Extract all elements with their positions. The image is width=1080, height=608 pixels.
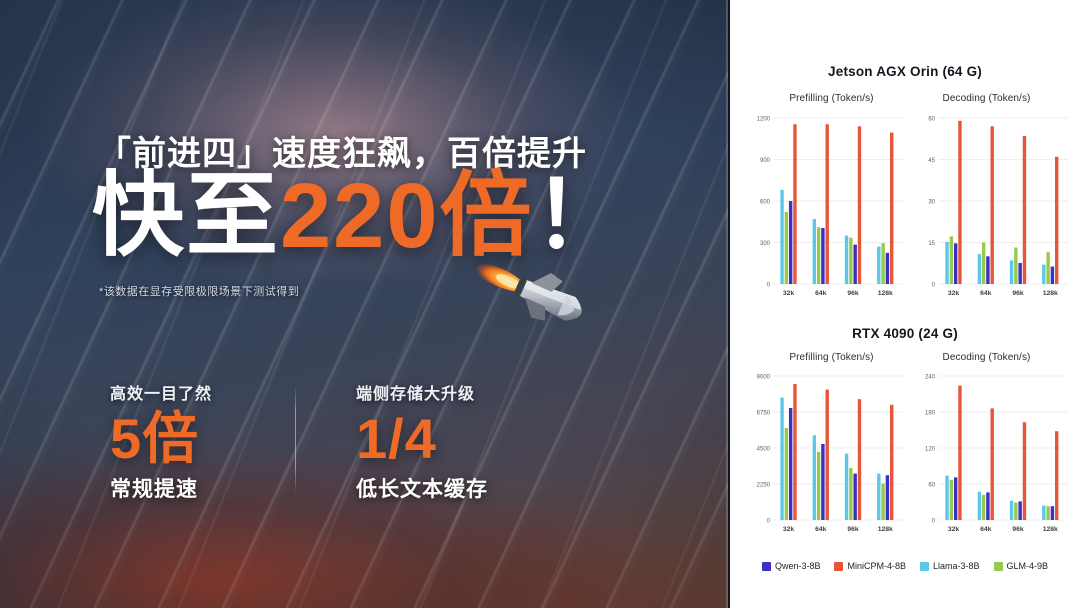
chart-bar: [890, 405, 893, 520]
stat-caption: 端侧存储大升级: [356, 380, 541, 404]
chart-bar: [1023, 136, 1026, 284]
legend-label: MiniCPM-4-8B: [847, 561, 906, 571]
chart-bar: [978, 254, 981, 284]
chart-bar: [986, 256, 989, 284]
x-axis-tick-label: 32k: [783, 290, 795, 297]
y-axis-tick-label: 30: [928, 200, 935, 206]
chart-bar: [826, 124, 829, 284]
chart-bar: [945, 476, 948, 520]
chart-bar: [877, 474, 880, 520]
big-multiplier-value: 220倍: [280, 165, 534, 267]
stat-sublabel: 常规提速: [110, 473, 295, 503]
y-axis-tick-label: 300: [760, 241, 771, 247]
legend-swatch-icon: [834, 562, 843, 571]
chart-bar: [982, 495, 985, 520]
hero-panel: 「前进四」速度狂飙，百倍提升 快至220倍！ *该数据在显存受限极限场景下测试得…: [0, 0, 728, 608]
chart-bar: [958, 386, 961, 520]
big-multiplier-exclamation: ！: [534, 165, 628, 267]
x-axis-tick-label: 96k: [1012, 290, 1024, 297]
y-axis-tick-label: 180: [925, 411, 936, 417]
x-axis-tick-label: 96k: [847, 526, 859, 533]
slide-root: 「前进四」速度狂飙，百倍提升 快至220倍！ *该数据在显存受限极限场景下测试得…: [0, 0, 1080, 608]
chart-bar: [978, 492, 981, 520]
legend-swatch-icon: [994, 562, 1003, 571]
y-axis-tick-label: 120: [925, 447, 936, 453]
chart-bar: [826, 390, 829, 520]
chart-bar: [982, 243, 985, 285]
legend-swatch-icon: [762, 562, 771, 571]
y-axis-tick-label: 0: [767, 283, 771, 289]
x-axis-tick-label: 128k: [878, 526, 893, 533]
y-axis-tick-label: 60: [928, 117, 935, 123]
chart-bar: [991, 408, 994, 520]
stat-card-cache: 端侧存储大升级 1/4 低长文本缓存: [296, 380, 541, 503]
y-axis-tick-label: 60: [928, 483, 935, 489]
chart-bar: [1014, 247, 1017, 284]
legend-item: MiniCPM-4-8B: [834, 561, 906, 571]
chart-group-title-jetson: Jetson AGX Orin (64 G): [730, 64, 1080, 79]
chart-bar: [845, 236, 848, 284]
chart-bar: [991, 126, 994, 284]
legend-item: Qwen-3-8B: [762, 561, 821, 571]
chart-bar: [950, 480, 953, 520]
x-axis-tick-label: 32k: [948, 526, 960, 533]
x-axis-tick-label: 64k: [815, 526, 827, 533]
y-axis-tick-label: 15: [928, 241, 935, 247]
chart-bar: [954, 243, 957, 284]
x-axis-tick-label: 64k: [980, 526, 992, 533]
chart-legend: Qwen-3-8BMiniCPM-4-8BLlama-3-8BGLM-4-9B: [730, 558, 1080, 574]
chart-jetson-decoding: 01530456032k64k96k128k: [909, 110, 1074, 310]
chart-bar: [1046, 252, 1049, 284]
x-axis-tick-label: 32k: [783, 526, 795, 533]
y-axis-tick-label: 240: [925, 375, 936, 381]
x-axis-tick-label: 128k: [878, 290, 893, 297]
chart-group-title-rtx: RTX 4090 (24 G): [730, 326, 1080, 341]
stat-value: 5倍: [110, 408, 295, 471]
chart-bar: [858, 126, 861, 284]
stat-value: 1/4: [356, 408, 541, 471]
chart-bar: [789, 201, 792, 284]
chart-bar: [945, 242, 948, 284]
legend-swatch-icon: [920, 562, 929, 571]
chart-bar: [1055, 157, 1058, 284]
x-axis-tick-label: 64k: [815, 290, 827, 297]
chart-bar: [1046, 506, 1049, 520]
x-axis-tick-label: 96k: [1012, 526, 1024, 533]
chart-bar: [890, 133, 893, 284]
chart-bar: [793, 124, 796, 284]
chart-bar: [881, 243, 884, 284]
chart-bar: [785, 428, 788, 520]
chart-bar: [950, 236, 953, 284]
y-axis-tick-label: 0: [932, 283, 936, 289]
y-axis-tick-label: 0: [767, 519, 771, 525]
chart-bar: [1055, 431, 1058, 520]
legend-label: GLM-4-9B: [1007, 561, 1049, 571]
chart-bar: [821, 228, 824, 284]
chart-bar: [886, 253, 889, 284]
legend-item: Llama-3-8B: [920, 561, 980, 571]
chart-bar: [1042, 506, 1045, 520]
chart-bar: [845, 454, 848, 520]
chart-bar: [789, 408, 792, 520]
chart-bar: [1051, 506, 1054, 520]
chart-bar: [1018, 501, 1021, 520]
y-axis-tick-label: 2250: [757, 483, 771, 489]
footnote: *该数据在显存受限极限场景下测试得到: [99, 283, 299, 299]
chart-jetson-prefilling: 0300600900120032k64k96k128k: [744, 110, 909, 310]
chart-subtitle-rtx-prefilling: Prefilling (Token/s): [754, 352, 909, 363]
x-axis-tick-label: 128k: [1043, 526, 1058, 533]
chart-rtx-decoding: 06012018024032k64k96k128k: [909, 368, 1074, 546]
big-multiplier-prefix: 快至: [92, 165, 280, 267]
chart-bar: [1051, 267, 1054, 284]
chart-bar: [817, 227, 820, 284]
chart-bar: [877, 247, 880, 284]
chart-bar: [793, 384, 796, 520]
x-axis-tick-label: 128k: [1043, 290, 1058, 297]
stat-card-speed: 高效一目了然 5倍 常规提速: [110, 380, 295, 503]
chart-bar: [1014, 503, 1017, 520]
chart-bar: [813, 219, 816, 284]
x-axis-tick-label: 64k: [980, 290, 992, 297]
chart-bar: [853, 245, 856, 284]
chart-bar: [1042, 265, 1045, 284]
stat-caption: 高效一目了然: [110, 380, 295, 404]
chart-bar: [954, 477, 957, 520]
stats-row: 高效一目了然 5倍 常规提速 端侧存储大升级 1/4 低长文本缓存: [110, 380, 541, 503]
panel-separator: [726, 0, 728, 608]
y-axis-tick-label: 4500: [757, 447, 771, 453]
x-axis-tick-label: 32k: [948, 290, 960, 297]
chart-bar: [1010, 501, 1013, 520]
chart-bar: [1010, 260, 1013, 284]
legend-item: GLM-4-9B: [994, 561, 1049, 571]
chart-bar: [821, 444, 824, 520]
chart-bar: [780, 398, 783, 520]
chart-bar: [849, 468, 852, 520]
y-axis-tick-label: 6750: [757, 411, 771, 417]
y-axis-tick-label: 1200: [757, 117, 771, 123]
chart-bar: [817, 452, 820, 520]
big-multiplier-line: 快至220倍！: [92, 168, 628, 265]
benchmark-panel: Jetson AGX Orin (64 G) Prefilling (Token…: [730, 0, 1080, 608]
chart-bar: [986, 492, 989, 520]
chart-bar: [813, 435, 816, 520]
chart-bar: [853, 474, 856, 520]
chart-subtitle-jetson-prefilling: Prefilling (Token/s): [754, 93, 909, 104]
chart-bar: [780, 190, 783, 284]
chart-subtitle-jetson-decoding: Decoding (Token/s): [909, 93, 1064, 104]
y-axis-tick-label: 600: [760, 200, 771, 206]
chart-bar: [958, 121, 961, 284]
chart-bar: [1023, 422, 1026, 520]
x-axis-tick-label: 96k: [847, 290, 859, 297]
chart-bar: [1018, 263, 1021, 284]
y-axis-tick-label: 0: [932, 519, 936, 525]
legend-label: Llama-3-8B: [933, 561, 980, 571]
stat-sublabel: 低长文本缓存: [356, 473, 541, 503]
chart-bar: [849, 238, 852, 284]
chart-subtitle-rtx-decoding: Decoding (Token/s): [909, 352, 1064, 363]
chart-bar: [785, 212, 788, 284]
chart-rtx-prefilling: 0225045006750900032k64k96k128k: [744, 368, 909, 546]
chart-bar: [881, 484, 884, 520]
vignette-decoration: [0, 0, 728, 608]
y-axis-tick-label: 900: [760, 158, 771, 164]
y-axis-tick-label: 9000: [757, 375, 771, 381]
y-axis-tick-label: 45: [928, 158, 935, 164]
chart-bar: [858, 399, 861, 520]
legend-label: Qwen-3-8B: [775, 561, 821, 571]
chart-bar: [886, 475, 889, 520]
